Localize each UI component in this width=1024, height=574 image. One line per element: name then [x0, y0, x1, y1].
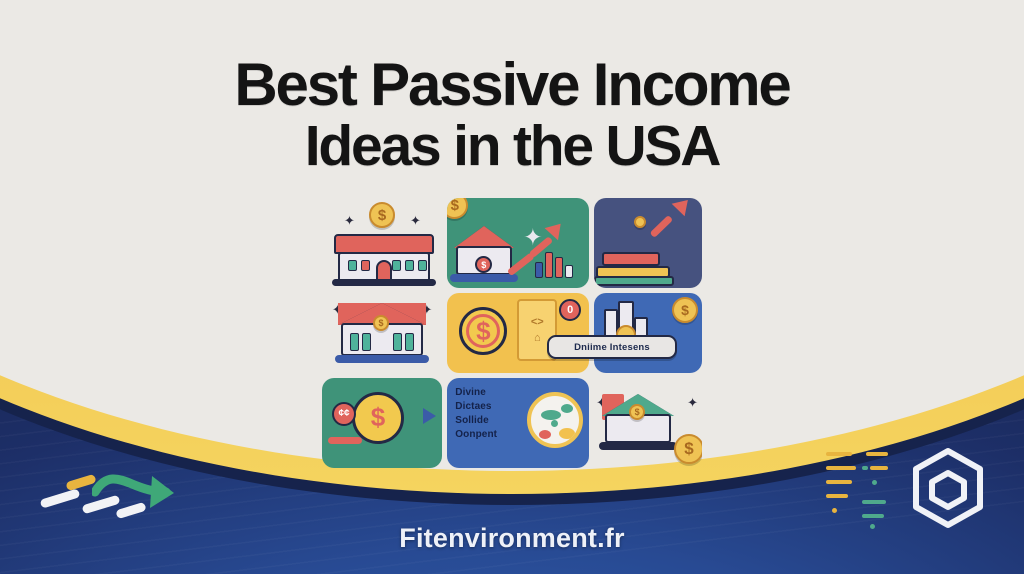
arrow-icon: [423, 408, 436, 424]
house-icon: [334, 234, 434, 286]
caption-block: Divine Dictaes Sollide Oonpent: [455, 386, 497, 442]
page-title: Best Passive Income Ideas in the USA: [0, 56, 1024, 173]
tile-online-interest: $: [594, 293, 702, 372]
book-icon: [594, 276, 674, 286]
hexagon-logo-icon: [906, 446, 990, 530]
illustration-collage: $ ✦ ✦ $: [322, 198, 702, 468]
dollar-coin-icon: $: [447, 198, 468, 219]
tile-rental-property: $ ✦ ✦: [322, 198, 442, 288]
bank-icon: $: [338, 303, 426, 363]
arrow-dashes-motif: [30, 458, 190, 528]
caption-line-2: Dictaes: [455, 400, 497, 414]
caption-line-4: Oonpent: [455, 428, 497, 442]
globe-icon: [527, 392, 583, 448]
site-name: Fitenvironment.fr: [0, 523, 1024, 554]
dollar-coin-icon: $: [369, 202, 395, 228]
tile-savings-coin: $ ¢¢: [322, 378, 442, 468]
caption-line-3: Sollide: [455, 414, 497, 428]
green-arrow-icon: [92, 470, 178, 514]
title-line-1: Best Passive Income: [0, 56, 1024, 113]
dollar-coin-icon: $: [672, 297, 698, 323]
tile-digital-products: $ <> ⌂ 0: [447, 293, 589, 372]
growth-arrow-icon: [652, 198, 702, 254]
vault-icon: $: [453, 226, 515, 282]
sparkle-icon: ✦: [410, 214, 421, 227]
book-icon: [602, 252, 660, 266]
sparkle-icon: ✦: [344, 214, 355, 227]
tile-dividend-bank: ✦ ✦ $: [322, 293, 442, 372]
tile-reit-bank: ✦ ✦ $ $: [594, 378, 702, 468]
dollar-coin-icon: $: [459, 307, 507, 355]
bar-chart-icon: [535, 248, 579, 278]
tile-bank-investing: $ $ ✦: [447, 198, 589, 288]
online-interest-label: Dniime Intesens: [547, 335, 677, 359]
title-line-2: Ideas in the USA: [0, 119, 1024, 173]
bank-icon: $: [602, 394, 674, 450]
dollar-coin-icon: $: [674, 434, 702, 464]
tile-global-fund: Divine Dictaes Sollide Oonpent: [447, 378, 589, 468]
coin-badge-icon: ¢¢: [332, 402, 356, 426]
sparkle-icon: ✦: [687, 396, 698, 409]
thumbnail-banner: Best Passive Income Ideas in the USA $ ✦…: [0, 0, 1024, 574]
hex-ticks-motif: [818, 434, 998, 534]
code-glyph: <>: [531, 316, 544, 328]
caption-line-1: Divine: [455, 386, 497, 400]
notification-badge-icon: 0: [559, 299, 581, 321]
upload-glyph: ⌂: [534, 332, 541, 344]
tile-royalties-books: [594, 198, 702, 288]
gold-coin-icon: $: [352, 392, 404, 444]
